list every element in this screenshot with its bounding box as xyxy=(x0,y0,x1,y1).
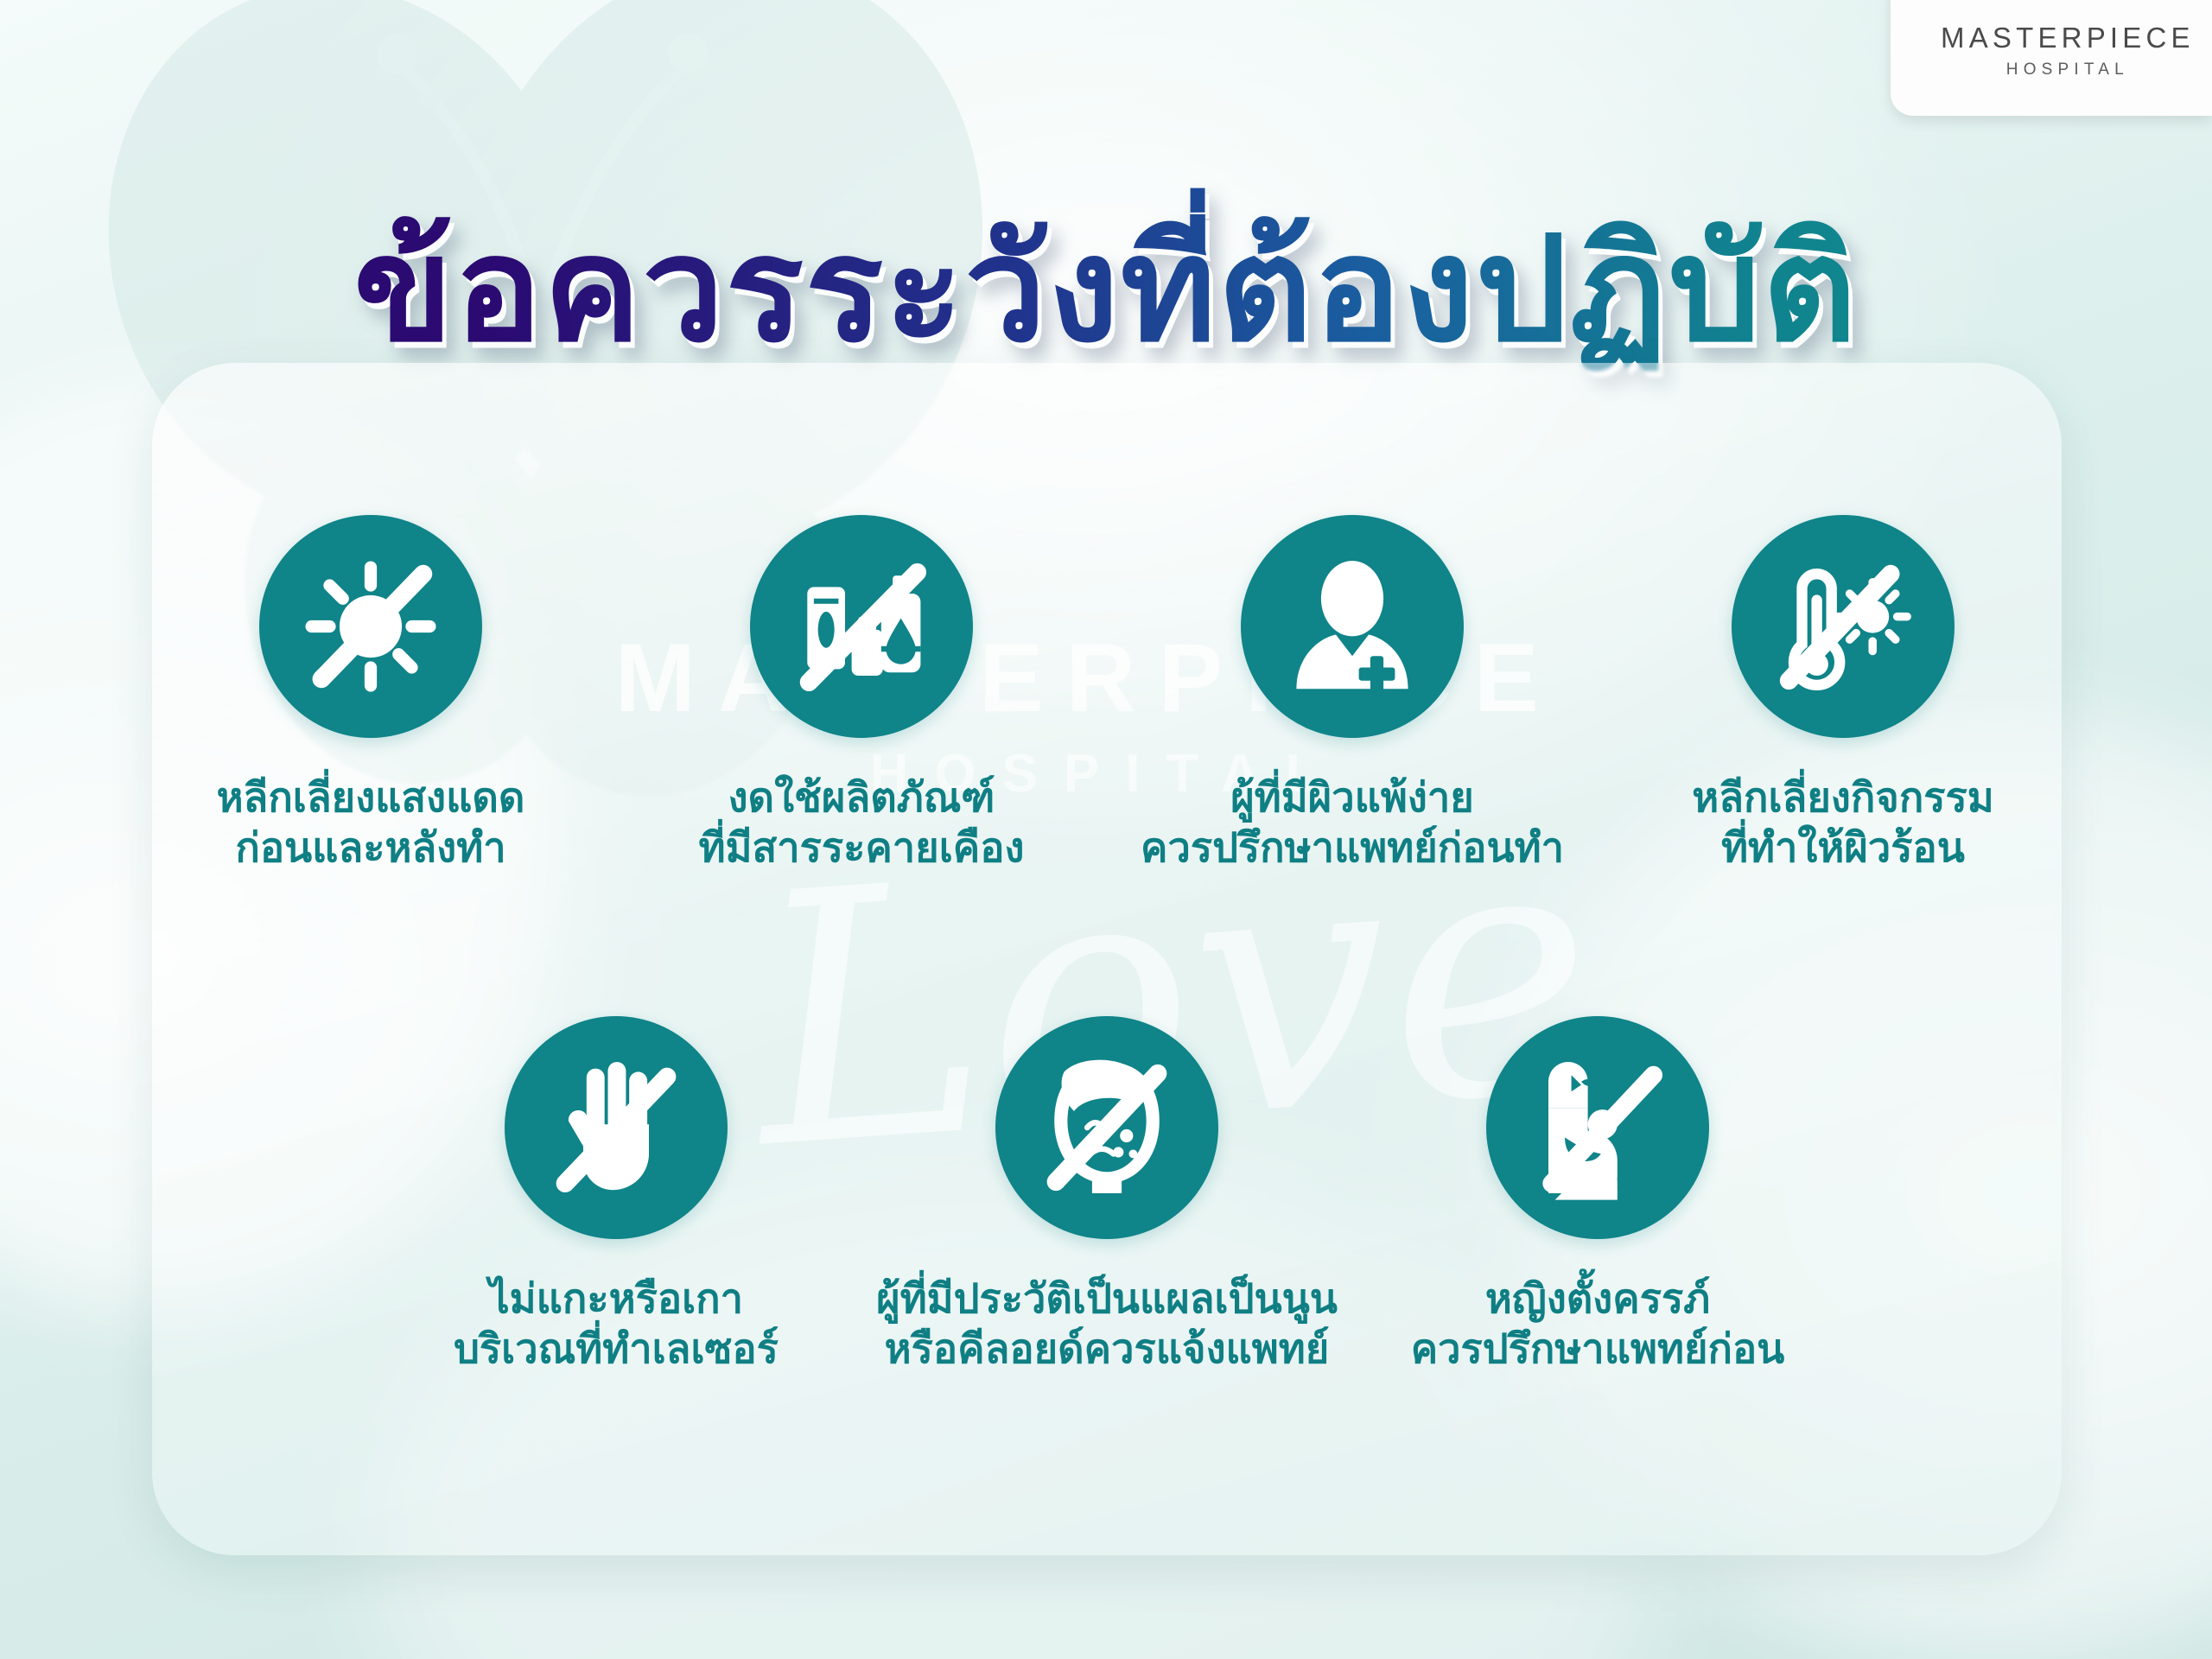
no-heat-thermometer-icon xyxy=(1761,544,1925,709)
precaution-item: หลีกเลี่ยงแสงแดด ก่อนและหลังทำ xyxy=(172,515,569,874)
caption-line-2: ก่อนและหลังทำ xyxy=(217,823,525,873)
patient-doctor-icon xyxy=(1270,544,1434,709)
icon-badge xyxy=(1241,515,1464,738)
caption-line-1: หลีกเลี่ยงกิจกรรม xyxy=(1692,774,1994,820)
no-sun-icon xyxy=(289,544,453,709)
precaution-caption: หลีกเลี่ยงแสงแดด ก่อนและหลังทำ xyxy=(217,772,525,874)
precaution-item: งดใช้ผลิตภัณฑ์ ที่มีสารระคายเคือง xyxy=(663,515,1060,874)
icon-badge xyxy=(505,1016,728,1239)
precaution-caption: หญิงตั้งครรภ์ ควรปรึกษาแพทย์ก่อน xyxy=(1411,1274,1785,1375)
caption-line-2: ที่ทำให้ผิวร้อน xyxy=(1692,823,1994,873)
caption-line-1: งดใช้ผลิตภัณฑ์ xyxy=(728,774,995,820)
caption-line-2: ควรปรึกษาแพทย์ก่อน xyxy=(1411,1324,1785,1374)
precaution-caption: งดใช้ผลิตภัณฑ์ ที่มีสารระคายเคือง xyxy=(699,772,1025,874)
no-scratch-hand-icon xyxy=(534,1046,698,1210)
precaution-row-1: หลีกเลี่ยงแสงแดด ก่อนและหลังทำ xyxy=(152,515,2062,874)
precaution-caption: ผู้ที่มีประวัติเป็นแผลเป็นนูน หรือคีลอยด… xyxy=(876,1274,1338,1375)
logo-name: MASTERPIECE xyxy=(1941,23,2195,52)
caption-line-2: ควรปรึกษาแพทย์ก่อนทำ xyxy=(1141,823,1564,873)
no-pregnant-icon xyxy=(1516,1046,1680,1210)
caption-line-2: บริเวณที่ทำเลเซอร์ xyxy=(454,1324,779,1374)
precaution-caption: ผู้ที่มีผิวแพ้ง่าย ควรปรึกษาแพทย์ก่อนทำ xyxy=(1141,772,1564,874)
caption-line-1: ไม่แกะหรือเกา xyxy=(489,1275,743,1321)
caption-line-2: ที่มีสารระคายเคือง xyxy=(699,823,1025,873)
no-cosmetics-icon xyxy=(779,544,944,709)
logo-sub: HOSPITAL xyxy=(1941,61,2195,78)
precaution-item: หลีกเลี่ยงกิจกรรม ที่ทำให้ผิวร้อน xyxy=(1644,515,2042,874)
icon-badge xyxy=(995,1016,1218,1239)
precaution-item: ไม่แกะหรือเกา บริเวณที่ทำเลเซอร์ xyxy=(417,1016,815,1375)
precaution-item: ผู้ที่มีผิวแพ้ง่าย ควรปรึกษาแพทย์ก่อนทำ xyxy=(1154,515,1551,874)
icon-badge xyxy=(1732,515,1955,738)
precaution-row-2: ไม่แกะหรือเกา บริเวณที่ทำเลเซอร์ xyxy=(152,1016,2062,1375)
brand-logo: MASTERPIECE HOSPITAL xyxy=(1891,0,2212,116)
caption-line-1: หญิงตั้งครรภ์ xyxy=(1485,1275,1710,1321)
precaution-caption: ไม่แกะหรือเกา บริเวณที่ทำเลเซอร์ xyxy=(454,1274,779,1375)
precaution-caption: หลีกเลี่ยงกิจกรรม ที่ทำให้ผิวร้อน xyxy=(1692,772,1994,874)
caption-line-1: ผู้ที่มีประวัติเป็นแผลเป็นนูน xyxy=(876,1275,1338,1321)
caption-line-2: หรือคีลอยด์ควรแจ้งแพทย์ xyxy=(876,1324,1338,1374)
icon-badge xyxy=(1486,1016,1709,1239)
caption-line-1: หลีกเลี่ยงแสงแดด xyxy=(217,774,525,820)
icon-badge xyxy=(750,515,973,738)
caption-line-1: ผู้ที่มีผิวแพ้ง่าย xyxy=(1230,774,1474,820)
icon-badge xyxy=(259,515,482,738)
precaution-item: ผู้ที่มีประวัติเป็นแผลเป็นนูน หรือคีลอยด… xyxy=(908,1016,1306,1375)
precaution-item: หญิงตั้งครรภ์ ควรปรึกษาแพทย์ก่อน xyxy=(1399,1016,1796,1375)
no-scar-face-icon xyxy=(1025,1046,1189,1210)
